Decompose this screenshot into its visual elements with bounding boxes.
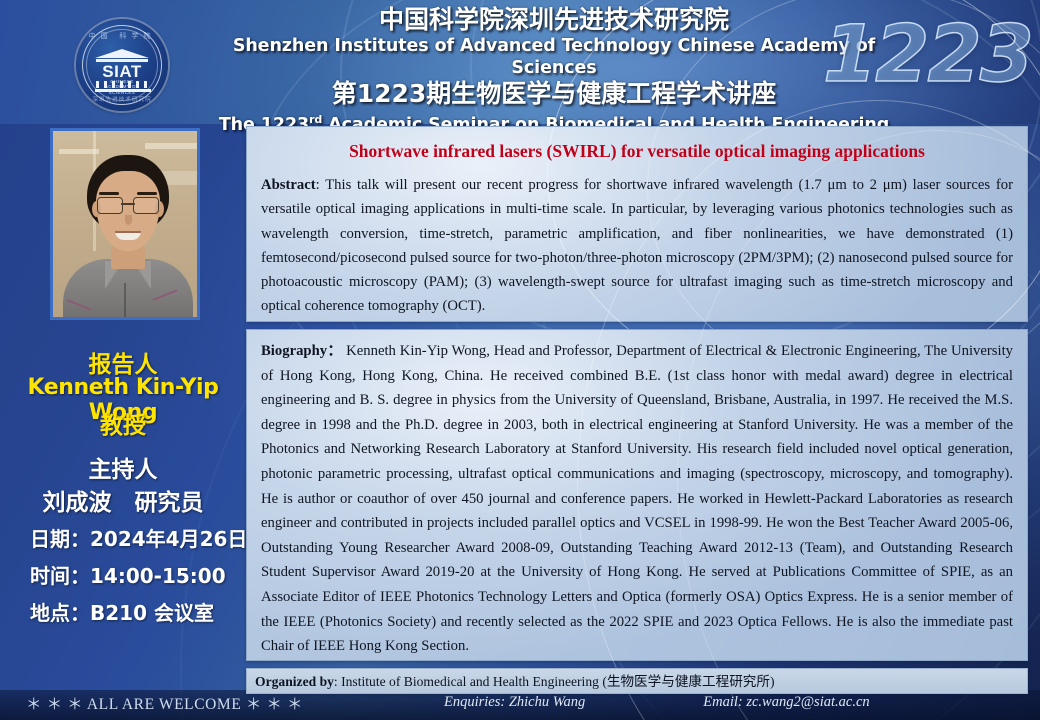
photo-shirt-placket bbox=[124, 283, 126, 320]
biography-panel: Biography： Kenneth Kin-Yip Wong, Head an… bbox=[246, 329, 1028, 661]
logo-caption: CHINESE ACADEMY OF SCIENCES bbox=[76, 79, 168, 95]
enquiries-text: Enquiries: Zhichu Wang bbox=[444, 694, 585, 711]
organized-by-label: Organized by bbox=[255, 674, 334, 689]
footer-contact: Enquiries: Zhichu Wang Email: zc.wang2@s… bbox=[246, 694, 1028, 711]
organizer-text: Organized by: Institute of Biomedical an… bbox=[255, 672, 1019, 691]
organizer-panel: Organized by: Institute of Biomedical an… bbox=[246, 668, 1028, 694]
photo-nose bbox=[125, 215, 132, 225]
seminar-en-ordinal: rd bbox=[309, 113, 322, 126]
logo-roof-shape bbox=[95, 49, 149, 58]
abstract-body: : This talk will present our recent prog… bbox=[261, 177, 1013, 314]
speaker-academic-title: 教授 bbox=[0, 406, 246, 440]
institute-name-en: Shenzhen Institutes of Advanced Technolo… bbox=[196, 35, 912, 79]
abstract-text: Abstract: This talk will present our rec… bbox=[261, 173, 1013, 319]
abstract-label: Abstract bbox=[261, 177, 316, 193]
speaker-photo bbox=[50, 128, 200, 320]
speaker-role-label: 报告人 bbox=[0, 345, 246, 379]
logo-cn-bottom-text: 深圳先进技术研究院 bbox=[76, 95, 168, 103]
organizer-name: : Institute of Biomedical and Health Eng… bbox=[334, 674, 775, 689]
biography-label: Biography： bbox=[261, 343, 342, 359]
abstract-panel: Shortwave infrared lasers (SWIRL) for ve… bbox=[246, 126, 1028, 322]
event-date: 日期：2024年4月26日 bbox=[30, 523, 247, 552]
photo-bg-shelf bbox=[59, 149, 99, 154]
logo-cn-top-text: 中国 科学院 bbox=[76, 31, 168, 41]
photo-eyebrow-left bbox=[99, 192, 119, 195]
photo-lens-left bbox=[97, 197, 123, 214]
header-title-block: 中国科学院深圳先进技术研究院 Shenzhen Institutes of Ad… bbox=[196, 5, 912, 136]
issue-number-watermark: 1223 bbox=[823, 16, 1032, 94]
poster-header: 中国 科学院 SIAT CHINESE ACADEMY OF SCIENCES … bbox=[0, 0, 1040, 124]
logo-acronym: SIAT bbox=[96, 63, 148, 80]
photo-lens-right bbox=[133, 197, 159, 214]
photo-glasses-icon bbox=[97, 197, 159, 212]
biography-body: Kenneth Kin-Yip Wong, Head and Professor… bbox=[261, 343, 1013, 654]
photo-eyebrow-right bbox=[137, 192, 157, 195]
talk-title: Shortwave infrared lasers (SWIRL) for ve… bbox=[261, 141, 1013, 162]
email-text: Email: zc.wang2@siat.ac.cn bbox=[703, 694, 869, 711]
siat-logo: 中国 科学院 SIAT CHINESE ACADEMY OF SCIENCES … bbox=[76, 19, 168, 111]
institute-name-cn: 中国科学院深圳先进技术研究院 bbox=[196, 5, 912, 35]
seminar-title-cn: 第1223期生物医学与健康工程学术讲座 bbox=[196, 79, 912, 109]
biography-text: Biography： Kenneth Kin-Yip Wong, Head an… bbox=[261, 339, 1013, 659]
event-time: 时间：14:00-15:00 bbox=[30, 560, 226, 589]
host-name: 刘成波 研究员 bbox=[0, 483, 246, 517]
event-location: 地点：B210 会议室 bbox=[30, 597, 214, 626]
host-role-label: 主持人 bbox=[0, 450, 246, 484]
photo-bg-shelf bbox=[145, 143, 197, 149]
seminar-poster: 中国 科学院 SIAT CHINESE ACADEMY OF SCIENCES … bbox=[0, 0, 1040, 720]
